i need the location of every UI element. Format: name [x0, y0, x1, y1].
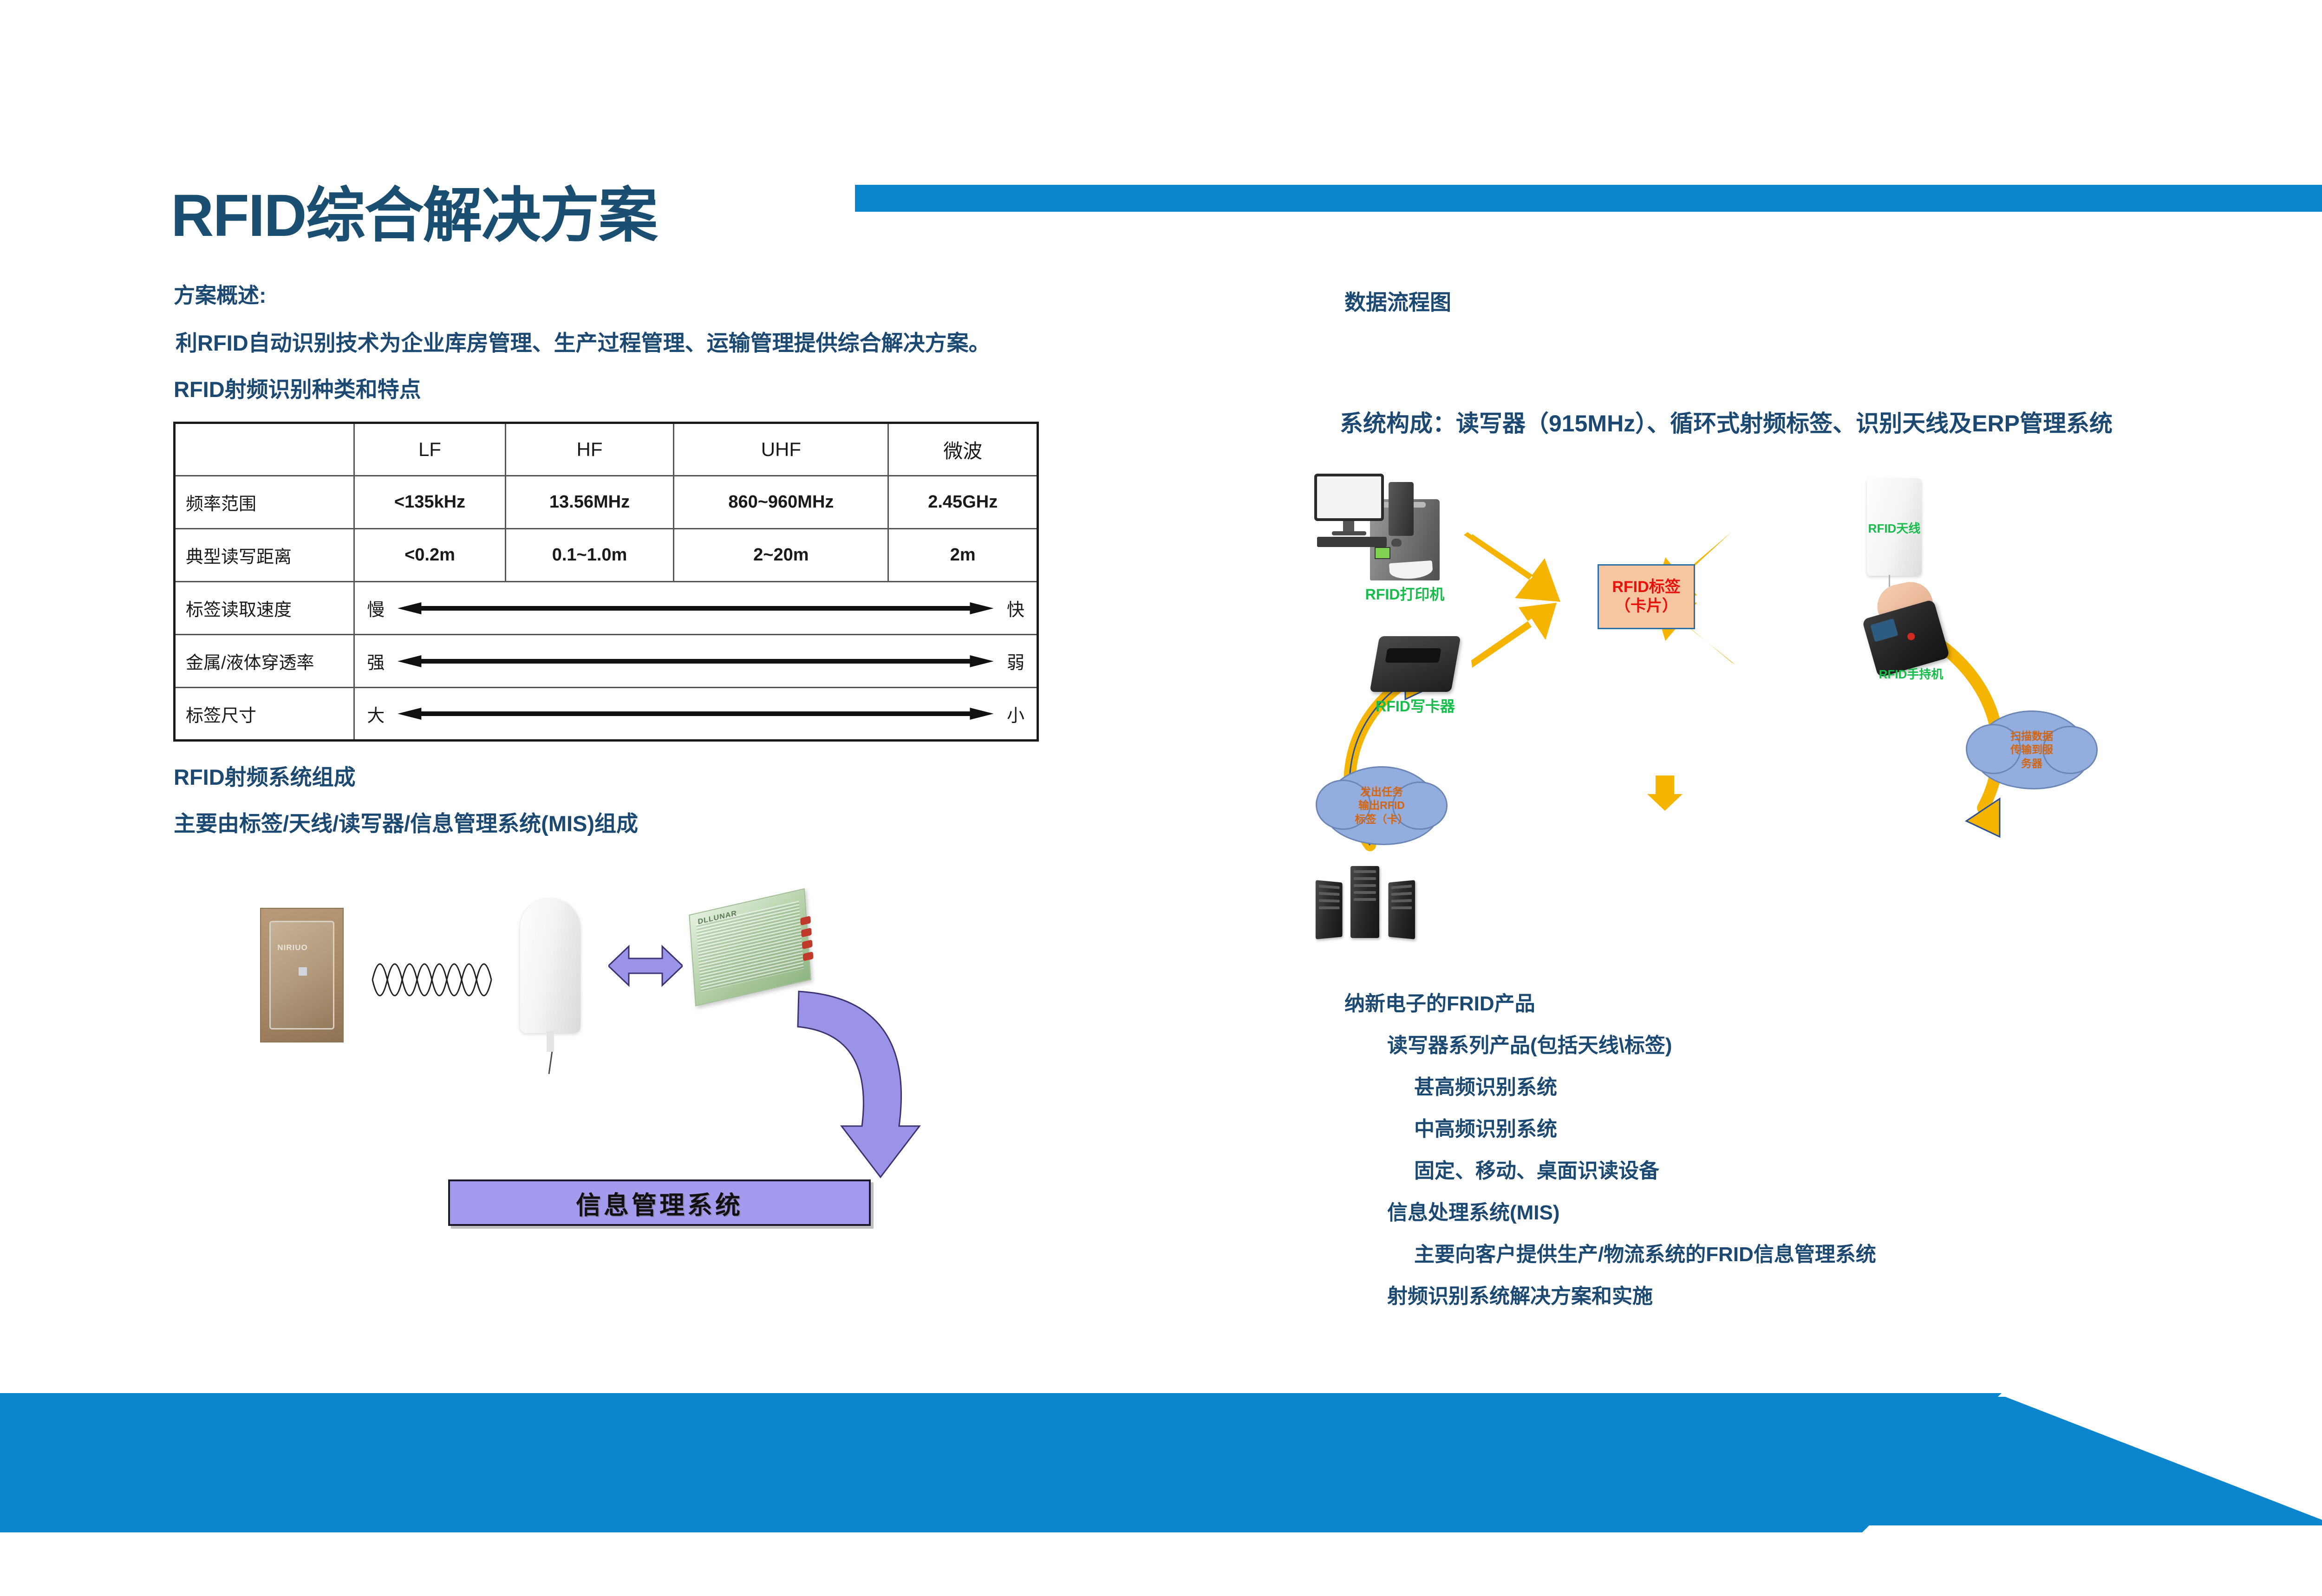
row-label-tag-size: 标签尺寸: [175, 688, 354, 741]
bullet-item: 纳新电子的FRID产品: [1344, 987, 1876, 1016]
read-speed-left-label: 慢: [367, 595, 385, 621]
cell-frequency-mw: 2.45GHz: [888, 476, 1038, 529]
writer-caption: RFID写卡器: [1376, 695, 1455, 716]
footer-decoration: [0, 1375, 2322, 1570]
monitor-base: [1332, 531, 1366, 535]
cell-distance-hf: 0.1~1.0m: [505, 529, 674, 582]
bullet-item: 读写器系列产品(包括天线\标签): [1387, 1029, 1876, 1058]
handheld-trigger-button: [1906, 632, 1916, 641]
antenna-caption: RFID天线: [1868, 519, 1921, 536]
monitor-stand: [1343, 521, 1354, 531]
cloud-callout-scan-upload: 扫描数据 传输到服 务器: [1974, 710, 2090, 789]
handheld-screen: [1870, 619, 1898, 642]
tag-size-right-label: 小: [1007, 701, 1024, 727]
cell-tag-size-gradient: 大 小: [354, 688, 1038, 741]
table-header-cell-microwave: 微波: [888, 423, 1038, 476]
mouse: [1391, 539, 1402, 547]
monitor: [1314, 474, 1384, 521]
rfid-handheld-device: RFID手持机: [1867, 590, 1955, 678]
table-header-cell-0: [175, 423, 354, 476]
system-composition-line-1: RFID射频系统组成: [174, 759, 356, 791]
double-arrow-icon: [398, 655, 994, 667]
table-row: 频率范围 <135kHz 13.56MHz 860~960MHz 2.45GHz: [175, 476, 1038, 529]
table-row: 金属/液体穿透率 强 弱: [175, 635, 1038, 688]
printer-caption: RFID打印机: [1365, 583, 1445, 604]
cell-penetration-gradient: 强 弱: [354, 635, 1038, 688]
rfid-data-flow-diagram: RFID打印机 RFID写卡器 RFID天线 RFID手持机: [1314, 474, 2211, 938]
footer-shape-right: [1811, 1375, 2322, 1532]
system-composition-line-2: 主要由标签/天线/读写器/信息管理系统(MIS)组成: [174, 806, 638, 838]
footer-shape-left: [0, 1393, 2002, 1532]
data-flow-title: 数据流程图: [1344, 286, 1451, 316]
printer-lcd-panel: [1375, 547, 1390, 559]
server-rack: [1388, 880, 1415, 939]
overview-label: 方案概述:: [174, 279, 266, 309]
read-speed-right-label: 快: [1007, 595, 1024, 621]
rfid-tag-photo: NIRIUO: [260, 908, 344, 1042]
writer-card-slot: [1385, 648, 1441, 663]
product-bullet-list: 纳新电子的FRID产品 读写器系列产品(包括天线\标签) 甚高频识别系统 中高频…: [1344, 987, 1876, 1321]
tag-brand-logo: NIRIUO: [277, 943, 308, 952]
server-rack: [1316, 880, 1343, 939]
handheld-caption: RFID手持机: [1879, 665, 1944, 682]
page-title: RFID综合解决方案: [171, 183, 657, 249]
overview-line-2: RFID射频识别种类和特点: [174, 371, 421, 404]
cloud-left-line-1: 发出任务: [1360, 785, 1403, 799]
keyboard: [1317, 537, 1387, 547]
cloud-left-line-3: 标签（卡）: [1355, 813, 1409, 826]
bidirectional-arrow-icon: [608, 943, 683, 989]
mis-box: 信息管理系统: [448, 1179, 871, 1226]
penetration-right-label: 弱: [1007, 648, 1024, 674]
double-arrow-icon: [398, 602, 994, 614]
rfid-antenna-device: RFID天线: [1867, 478, 1922, 576]
table-header-cell-uhf: UHF: [674, 423, 888, 476]
cell-distance-lf: <0.2m: [354, 529, 506, 582]
curved-down-arrow-icon: [771, 987, 924, 1182]
server-rack: [1350, 866, 1379, 938]
table-header-row: LF HF UHF 微波: [175, 423, 1038, 476]
bullet-item: 固定、移动、桌面识读设备: [1414, 1154, 1876, 1184]
row-label-frequency: 频率范围: [175, 476, 354, 529]
rfid-frequency-table: LF HF UHF 微波 频率范围 <135kHz 13.56MHz 860~9…: [173, 422, 1039, 742]
table-row: 标签尺寸 大 小: [175, 688, 1038, 741]
mis-box-label: 信息管理系统: [576, 1185, 743, 1221]
tag-box-line-1: RFID标签: [1612, 578, 1680, 597]
cloud-right-line-1: 扫描数据: [2010, 730, 2053, 743]
system-composition-text: 系统构成：读写器（915MHz）、循环式射频标签、识别天线及ERP管理系统: [1340, 405, 2113, 438]
cloud-left-line-2: 输出RFID: [1358, 799, 1405, 812]
cloud-right-line-2: 传输到服: [2010, 743, 2053, 756]
double-arrow-icon: [398, 708, 994, 720]
penetration-left-label: 强: [367, 648, 385, 674]
bullet-item: 射频识别系统解决方案和实施: [1387, 1279, 1876, 1309]
row-label-distance: 典型读写距离: [175, 529, 354, 582]
tag-size-left-label: 大: [367, 701, 385, 727]
cloud-callout-task-output: 发出任务 输出RFID 标签（卡）: [1324, 766, 1440, 845]
bullet-item: 甚高频识别系统: [1414, 1070, 1876, 1100]
rfid-tag-center-box: RFID标签 （卡片）: [1598, 564, 1695, 629]
cell-read-speed-gradient: 慢 快: [354, 582, 1038, 635]
cell-distance-mw: 2m: [888, 529, 1038, 582]
cloud-right-text: 扫描数据 传输到服 务器: [1974, 710, 2090, 789]
bullet-item: 主要向客户提供生产/物流系统的FRID信息管理系统: [1414, 1238, 1876, 1267]
rfid-card-writer-device: RFID写卡器: [1375, 636, 1456, 692]
bullet-item: 中高频识别系统: [1414, 1112, 1876, 1142]
rfid-antenna-photo: [520, 899, 580, 1033]
tag-chip: [299, 967, 307, 976]
pc-tower: [1389, 482, 1414, 536]
cell-distance-uhf: 2~20m: [674, 529, 888, 582]
rf-wave-icon: [372, 947, 492, 1012]
row-label-read-speed: 标签读取速度: [175, 582, 354, 635]
writer-body: [1370, 636, 1461, 692]
cell-frequency-lf: <135kHz: [354, 476, 506, 529]
header-accent-bar: [855, 185, 2322, 212]
antenna-cable: [548, 1051, 553, 1074]
table-header-cell-lf: LF: [354, 423, 506, 476]
cloud-left-text: 发出任务 输出RFID 标签（卡）: [1324, 766, 1440, 845]
row-label-penetration: 金属/液体穿透率: [175, 635, 354, 688]
tag-box-line-2: （卡片）: [1615, 597, 1678, 616]
table-header-cell-hf: HF: [505, 423, 674, 476]
cell-frequency-hf: 13.56MHz: [505, 476, 674, 529]
cell-frequency-uhf: 860~960MHz: [674, 476, 888, 529]
table-row: 标签读取速度 慢 快: [175, 582, 1038, 635]
bullet-item: 信息处理系统(MIS): [1387, 1196, 1876, 1225]
rfid-system-illustration: NIRIUO DLLUNAR: [223, 861, 1012, 1228]
table-row: 典型读写距离 <0.2m 0.1~1.0m 2~20m 2m: [175, 529, 1038, 582]
cloud-right-line-3: 务器: [2021, 757, 2042, 770]
slide-root: RFID综合解决方案 方案概述: 利RFID自动识别技术为企业库房管理、生产过程…: [0, 0, 2322, 1596]
overview-line-1: 利RFID自动识别技术为企业库房管理、生产过程管理、运输管理提供综合解决方案。: [176, 325, 991, 357]
